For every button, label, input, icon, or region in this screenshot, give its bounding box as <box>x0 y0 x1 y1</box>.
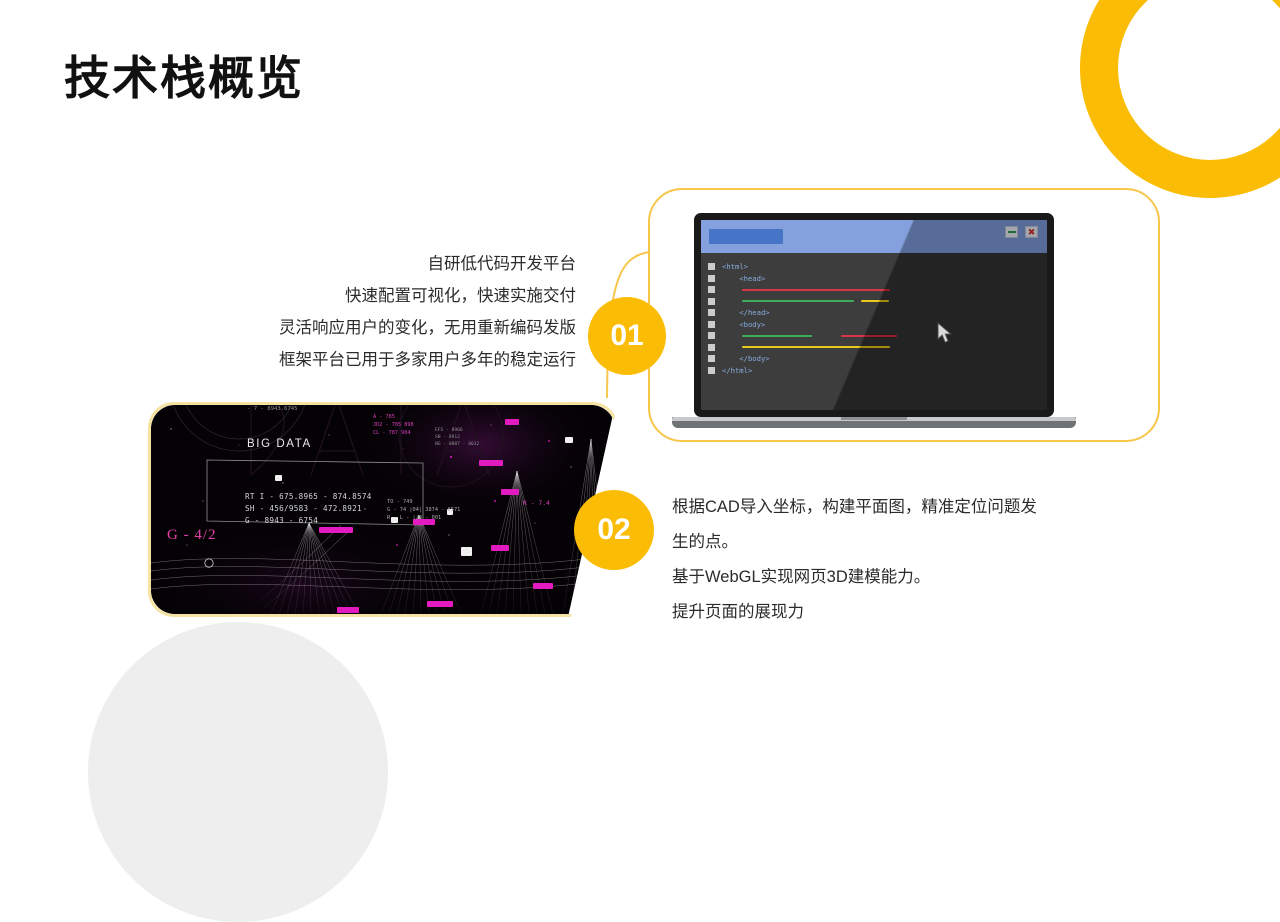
window-titlebar: ✖ <box>701 220 1047 253</box>
code-bar <box>861 300 889 302</box>
code-fold-box-icon[interactable] <box>708 321 715 328</box>
code-line-row: </html> <box>701 365 1047 377</box>
code-bar-group <box>742 289 890 291</box>
bigdata-chip <box>427 601 453 607</box>
code-fold-box-icon[interactable] <box>708 344 715 351</box>
badge-01: 01 <box>588 297 666 375</box>
code-bar-group <box>742 346 890 348</box>
code-bar-group <box>742 335 897 337</box>
minimize-icon[interactable] <box>1005 226 1018 238</box>
laptop-lid: ✖ <html> <head> </head> <body> </body></… <box>694 213 1054 417</box>
bigdata-readout-secondary: TO - 749 G - 74 |04| 3874 - 6571 R - L -… <box>387 498 460 523</box>
decorative-yellow-ring <box>1080 0 1280 198</box>
bigdata-chip <box>565 437 573 443</box>
item-01-line: 框架平台已用于多家用户多年的稳定运行 <box>120 344 576 376</box>
code-line-row: <html> <box>701 261 1047 273</box>
bigdata-tag-r74: R - 7.4 <box>523 499 550 507</box>
code-line-row <box>701 284 1047 296</box>
code-bar <box>742 335 812 337</box>
bigdata-chip <box>319 527 353 533</box>
code-tag: <html> <box>722 262 748 271</box>
item-01-line: 自研低代码开发平台 <box>120 248 576 280</box>
code-line-row: <body> <box>701 319 1047 331</box>
code-bar <box>742 300 854 302</box>
item-02-text: 根据CAD导入坐标，构建平面图，精准定位问题发生的点。基于WebGL实现网页3D… <box>672 490 1102 630</box>
code-fold-box-icon[interactable] <box>708 286 715 293</box>
bigdata-chip <box>505 419 519 425</box>
close-icon[interactable]: ✖ <box>1025 226 1038 238</box>
code-line-row <box>701 330 1047 342</box>
bigdata-readout-magenta: A - 785 JD2 - 785 898 CL - 787 904 <box>373 413 414 437</box>
code-bar <box>742 289 890 291</box>
bigdata-chip <box>479 460 503 466</box>
item-02-line: 生的点。 <box>672 525 1102 560</box>
item-01-text: 自研低代码开发平台快速配置可视化，快速实施交付灵活响应用户的变化，无用重新编码发… <box>120 248 576 376</box>
code-tag: </head> <box>722 308 770 317</box>
code-tag: </html> <box>722 366 752 375</box>
decorative-gray-circle <box>88 622 388 922</box>
window-title-field[interactable] <box>709 229 783 244</box>
code-bar <box>841 335 897 337</box>
code-tag: <head> <box>722 274 765 283</box>
badge-02: 02 <box>574 490 654 570</box>
code-line-row: </head> <box>701 307 1047 319</box>
code-fold-box-icon[interactable] <box>708 309 715 316</box>
bigdata-visual: BIG DATA RT I - 675.8965 - 874.8574 SH -… <box>148 402 618 617</box>
code-tag: </body> <box>722 354 770 363</box>
laptop-screen: ✖ <html> <head> </head> <body> </body></… <box>701 220 1047 410</box>
bigdata-chip <box>337 607 359 613</box>
code-fold-box-icon[interactable] <box>708 298 715 305</box>
bigdata-readout-tiny: EFS - 8966 SN - 8912 NG - 0887 - 8012 <box>435 427 479 448</box>
bigdata-readout-main: RT I - 675.8965 - 874.8574 SH - 456/9583… <box>245 491 372 526</box>
code-fold-box-icon[interactable] <box>708 332 715 339</box>
code-editor[interactable]: <html> <head> </head> <body> </body></ht… <box>701 253 1047 410</box>
item-02-line: 基于WebGL实现网页3D建模能力。 <box>672 560 1102 595</box>
page-title: 技术栈概览 <box>64 42 304 108</box>
window-controls: ✖ <box>1005 226 1038 238</box>
code-line-row <box>701 342 1047 354</box>
item-01-line: 快速配置可视化，快速实施交付 <box>120 280 576 312</box>
bigdata-chip <box>275 475 282 481</box>
bigdata-chip <box>533 583 553 589</box>
bigdata-readout-top: - 7 - 8943.6745 <box>247 405 298 414</box>
bigdata-chip <box>461 547 472 556</box>
code-line-row <box>701 296 1047 308</box>
bigdata-chip <box>501 489 519 495</box>
code-line-row: </body> <box>701 353 1047 365</box>
code-tag: <body> <box>722 320 765 329</box>
laptop-base <box>672 417 1076 428</box>
code-bar-group <box>742 300 889 302</box>
code-fold-box-icon[interactable] <box>708 367 715 374</box>
bigdata-chip <box>491 545 509 551</box>
bigdata-panel: BIG DATA RT I - 675.8965 - 874.8574 SH -… <box>151 405 615 614</box>
code-bar <box>742 346 890 348</box>
item-02-line: 提升页面的展现力 <box>672 595 1102 630</box>
item-02-line: 根据CAD导入坐标，构建平面图，精准定位问题发 <box>672 490 1102 525</box>
mouse-cursor-icon <box>937 322 953 344</box>
code-fold-box-icon[interactable] <box>708 355 715 362</box>
code-line-row: <head> <box>701 273 1047 285</box>
bigdata-tag-g42: G - 4/2 <box>167 527 217 544</box>
laptop-mockup: ✖ <html> <head> </head> <body> </body></… <box>694 213 1054 428</box>
bigdata-label: BIG DATA <box>247 438 312 450</box>
item-01-line: 灵活响应用户的变化，无用重新编码发版 <box>120 312 576 344</box>
code-fold-box-icon[interactable] <box>708 263 715 270</box>
code-fold-box-icon[interactable] <box>708 275 715 282</box>
